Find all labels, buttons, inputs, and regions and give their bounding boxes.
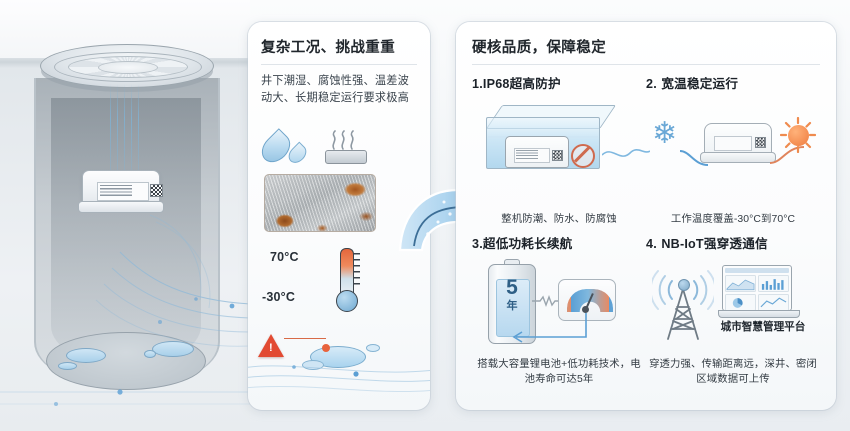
- title-divider: [261, 64, 417, 65]
- feature-title-1: IP68超高防护: [483, 77, 561, 91]
- hot-plate-icon: [325, 150, 367, 164]
- feature-title-2: 宽温稳定运行: [661, 77, 738, 91]
- platform-label: 城市智慧管理平台: [708, 319, 818, 334]
- manhole-center: [98, 61, 158, 74]
- wide-temp-illustration: ❄: [646, 97, 820, 189]
- line-chart-icon: [759, 295, 788, 310]
- feature-caption-4: 穿透力强、传输距离远，深井、密闭区域数据可上传: [646, 357, 820, 387]
- laptop-base: [718, 310, 800, 318]
- steam-wave-icon: [329, 130, 361, 150]
- area-chart-icon: [726, 276, 755, 291]
- water-drop-icon: [256, 128, 296, 168]
- submerged-device-icon: [505, 136, 569, 168]
- feature-caption-1: 整机防潮、防水、防腐蚀: [472, 212, 646, 227]
- installed-device-icon: [78, 170, 162, 214]
- feature-number-1: 1.: [472, 77, 483, 91]
- device-icon: [700, 123, 774, 165]
- device-label-text: [516, 150, 538, 160]
- qr-code-icon: [552, 150, 563, 161]
- device-label: [714, 136, 752, 151]
- manhole-cover-icon: [40, 44, 214, 88]
- dashboard-pie-card: [725, 294, 756, 311]
- temp-high-label: 70°C: [270, 250, 299, 264]
- prohibition-icon: [571, 144, 595, 168]
- features-grid: 1.IP68超高防护: [472, 73, 820, 393]
- device-label: [97, 182, 149, 201]
- tank-body: [486, 117, 600, 169]
- temp-low-label: -30°C: [262, 290, 295, 304]
- battery-illustration: 5 年: [472, 257, 646, 349]
- feature-title-4: NB-IoT强穿透通信: [661, 237, 767, 251]
- device-base: [700, 152, 776, 163]
- panel-flow-decor: [248, 350, 430, 410]
- features-panel: 硬核品质，保障稳定 1.IP68超高防护: [456, 22, 836, 410]
- feature-number-4: 4.: [646, 237, 657, 251]
- qr-code-icon: [755, 137, 766, 148]
- power-feedback-arrow: [506, 313, 598, 347]
- dashboard-bar-card: [758, 275, 789, 292]
- dashboard-line-card: [758, 294, 789, 311]
- thermometer-ticks: [353, 253, 360, 289]
- feature-caption-2: 工作温度覆盖-30°C到70°C: [646, 212, 820, 227]
- challenges-description: 井下潮湿、腐蚀性强、温差波动大、长期稳定运行要求极高: [261, 73, 417, 108]
- laptop-screen: [722, 265, 792, 311]
- dashboard-cards: [725, 275, 789, 311]
- thermometer-bulb: [336, 290, 358, 312]
- thermometer-icon: [334, 248, 358, 314]
- feature-heading-4: 4. NB-IoT强穿透通信: [646, 233, 820, 253]
- laptop-dashboard-icon: [718, 265, 798, 323]
- dashboard-header-bar: [725, 268, 789, 273]
- well-puddle: [58, 362, 77, 370]
- dashboard-chart-card: [725, 275, 756, 292]
- battery-life-value: 5: [489, 277, 535, 298]
- signal-tower-icon: [652, 269, 714, 341]
- nbiot-illustration: 城市智慧管理平台: [646, 257, 820, 349]
- feature-heading-1: 1.IP68超高防护: [472, 73, 646, 93]
- pie-chart-icon: [726, 295, 755, 310]
- feature-title-3: 超低功耗长续航: [483, 237, 573, 251]
- features-title-divider: [472, 64, 820, 65]
- water-ripple-decor: [602, 141, 650, 167]
- water-tank-icon: [486, 105, 610, 171]
- well-floor: [46, 332, 206, 390]
- device-label-text: [100, 185, 132, 198]
- qr-code-icon: [150, 184, 163, 197]
- tower-antenna-top: [678, 279, 690, 291]
- feature-cell-ip68: 1.IP68超高防护: [472, 73, 646, 233]
- infographic-root: 复杂工况、挑战重重 井下潮湿、腐蚀性强、温差波动大、长期稳定运行要求极高: [0, 0, 850, 431]
- feature-cell-low-power: 3.超低功耗长续航 5 年: [472, 233, 646, 393]
- sun-core: [788, 125, 809, 146]
- battery-life-group: 5 年: [489, 277, 535, 316]
- feature-heading-2: 2. 宽温稳定运行: [646, 73, 820, 93]
- device-label: [514, 148, 550, 163]
- underground-well-scene: [0, 0, 250, 431]
- leader-line: [284, 338, 326, 340]
- feature-number-2: 2.: [646, 77, 657, 91]
- feature-cell-nbiot: 4. NB-IoT强穿透通信: [646, 233, 820, 393]
- feature-number-3: 3.: [472, 237, 483, 251]
- heat-steam-icon: [325, 130, 365, 164]
- challenge-icons-row: [264, 120, 430, 164]
- sun-icon: [780, 117, 816, 153]
- feature-heading-3: 3.超低功耗长续航: [472, 233, 646, 253]
- well-puddle: [152, 341, 194, 357]
- well-puddle: [144, 350, 156, 358]
- feature-cell-wide-temp: 2. 宽温稳定运行 ❄: [646, 73, 820, 233]
- device-base: [78, 201, 164, 213]
- water-seepage-lines: [108, 84, 144, 182]
- ip68-illustration: [472, 97, 646, 189]
- gauge-hub: [582, 306, 589, 313]
- feature-caption-3: 搭载大容量锂电池+低功耗技术，电池寿命可达5年: [472, 357, 646, 387]
- temperature-range-group: 70°C -30°C: [248, 246, 430, 320]
- well-puddle: [66, 348, 106, 363]
- rust-corrosion-photo: [264, 174, 376, 232]
- features-title: 硬核品质，保障稳定: [472, 36, 820, 57]
- bar-chart-icon: [759, 276, 788, 291]
- challenges-title: 复杂工况、挑战重重: [261, 36, 417, 57]
